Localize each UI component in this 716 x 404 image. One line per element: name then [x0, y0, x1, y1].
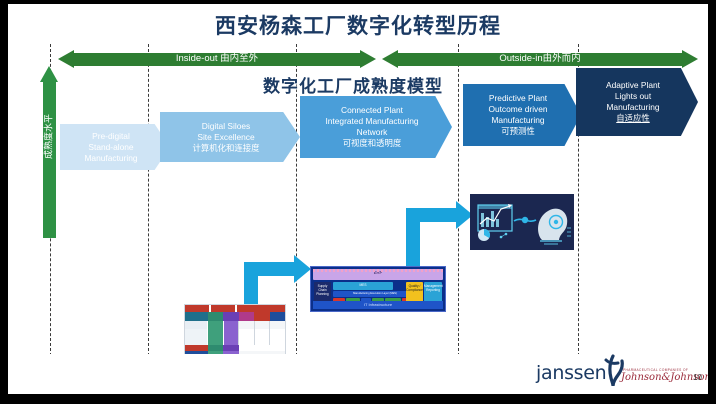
erp-bottom-label: IT Infrastructure — [313, 302, 443, 307]
connector-horizontal-segment — [244, 262, 296, 276]
slide-footer: janssen PHARMACEUTICAL COMPANIES OF John… — [8, 354, 708, 394]
erp-block-execution-layer: Manufacturing Execution Layer (MES) — [333, 291, 417, 297]
stage-chevron-2[interactable]: Digital Siloes Site Excellence 计算机化和连接度 — [160, 112, 300, 162]
stage-3-line-1: Connected Plant — [325, 105, 418, 116]
stage-2-text: Digital Siloes Site Excellence 计算机化和连接度 — [189, 121, 272, 154]
erp-block-label: MES — [333, 283, 393, 287]
elbow-arrow-stage3-to-stage4 — [406, 202, 476, 268]
stage-4-line-1: Predictive Plant — [488, 93, 547, 104]
erp-block-management-reporting: Management Reporting — [424, 282, 442, 303]
slide-canvas: 西安杨森工厂数字化转型历程 Inside-out 由内至外 Outside-in… — [8, 4, 708, 394]
slide-root: 西安杨森工厂数字化转型历程 Inside-out 由内至外 Outside-in… — [0, 0, 716, 404]
erp-block-label: Quality / Compliance — [406, 284, 423, 292]
stage-chevron-3[interactable]: Connected Plant Integrated Manufacturing… — [300, 96, 452, 158]
maturity-axis-arrow: 成熟度水平 — [40, 66, 59, 238]
stage-chevron-1[interactable]: Pre-digital Stand-alone Manufacturing — [60, 124, 170, 170]
erp-block-label: Supply Chain Planning — [314, 284, 331, 296]
erp-block-mes-top: MES — [333, 282, 393, 290]
stage-5-line-1: Adaptive Plant — [606, 80, 660, 91]
erp-block-quality-compliance[interactable]: Quality / Compliance — [406, 282, 423, 303]
stage-4-text: Predictive Plant Outcome driven Manufact… — [484, 93, 559, 137]
janssen-logo: janssen — [536, 362, 606, 384]
stage-2-line-1: Digital Siloes — [193, 121, 260, 132]
ai-analytics-illustration[interactable] — [470, 194, 574, 250]
outside-in-label: Outside-in由外而内 — [382, 52, 698, 66]
erp-block-supply-chain: Supply Chain Planning — [314, 282, 331, 303]
arrow-head-right-icon — [294, 255, 311, 283]
page-number: 10 — [693, 373, 702, 382]
stage-4-cn: 可预测性 — [488, 126, 547, 137]
stage-chevron-5[interactable]: Adaptive Plant Lights out Manufacturing … — [576, 68, 698, 136]
stage-5-line-3: Manufacturing — [606, 102, 660, 113]
erp-block-label: Management Reporting — [424, 284, 442, 292]
stage-2-line-2: Site Excellence — [193, 132, 260, 143]
inside-out-arrow: Inside-out 由内至外 — [58, 50, 376, 69]
ai-illustration-svg — [470, 194, 574, 250]
stage-5-line-2: Lights out — [606, 91, 660, 102]
elbow-arrow-stage2-to-stage3 — [244, 256, 314, 308]
inside-out-label: Inside-out 由内至外 — [58, 52, 376, 66]
page-title: 西安杨森工厂数字化转型历程 — [8, 10, 708, 40]
connector-horizontal-segment — [406, 208, 458, 222]
erp-bottom-band: IT Infrastructure — [313, 301, 443, 309]
stage-4-line-2: Outcome driven — [488, 104, 547, 115]
stage-3-cn: 可视度和透明度 — [325, 138, 418, 149]
maturity-axis-label: 成熟度水平 — [42, 95, 55, 179]
stage-1-line-2: Stand-alone — [84, 142, 137, 153]
stage-2-cn: 计算机化和连接度 — [193, 143, 260, 154]
stage-chevron-4[interactable]: Predictive Plant Outcome driven Manufact… — [463, 84, 581, 146]
stage-5-cn: 自适应性 — [606, 113, 660, 124]
capability-matrix-screenshot[interactable] — [184, 304, 286, 358]
erp-architecture-diagram[interactable]: ERP Supply Chain Planning MES Manufactur… — [310, 266, 446, 312]
maturity-model-label: 数字化工厂成熟度模型 — [234, 72, 472, 97]
stage-1-text: Pre-digital Stand-alone Manufacturing — [80, 131, 149, 164]
stage-3-line-2: Integrated Manufacturing — [325, 116, 418, 127]
stage-5-text: Adaptive Plant Lights out Manufacturing … — [602, 80, 672, 124]
stage-1-line-1: Pre-digital — [84, 131, 137, 142]
outside-in-arrow: Outside-in由外而内 — [382, 50, 698, 69]
erp-tick-strip — [313, 269, 443, 272]
column-divider-2 — [148, 44, 149, 356]
stage-1-line-3: Manufacturing — [84, 153, 137, 164]
stage-3-text: Connected Plant Integrated Manufacturing… — [321, 105, 430, 149]
stage-3-line-3: Network — [325, 127, 418, 138]
stage-4-line-3: Manufacturing — [488, 115, 547, 126]
erp-block-label: Manufacturing Execution Layer (MES) — [333, 292, 417, 296]
